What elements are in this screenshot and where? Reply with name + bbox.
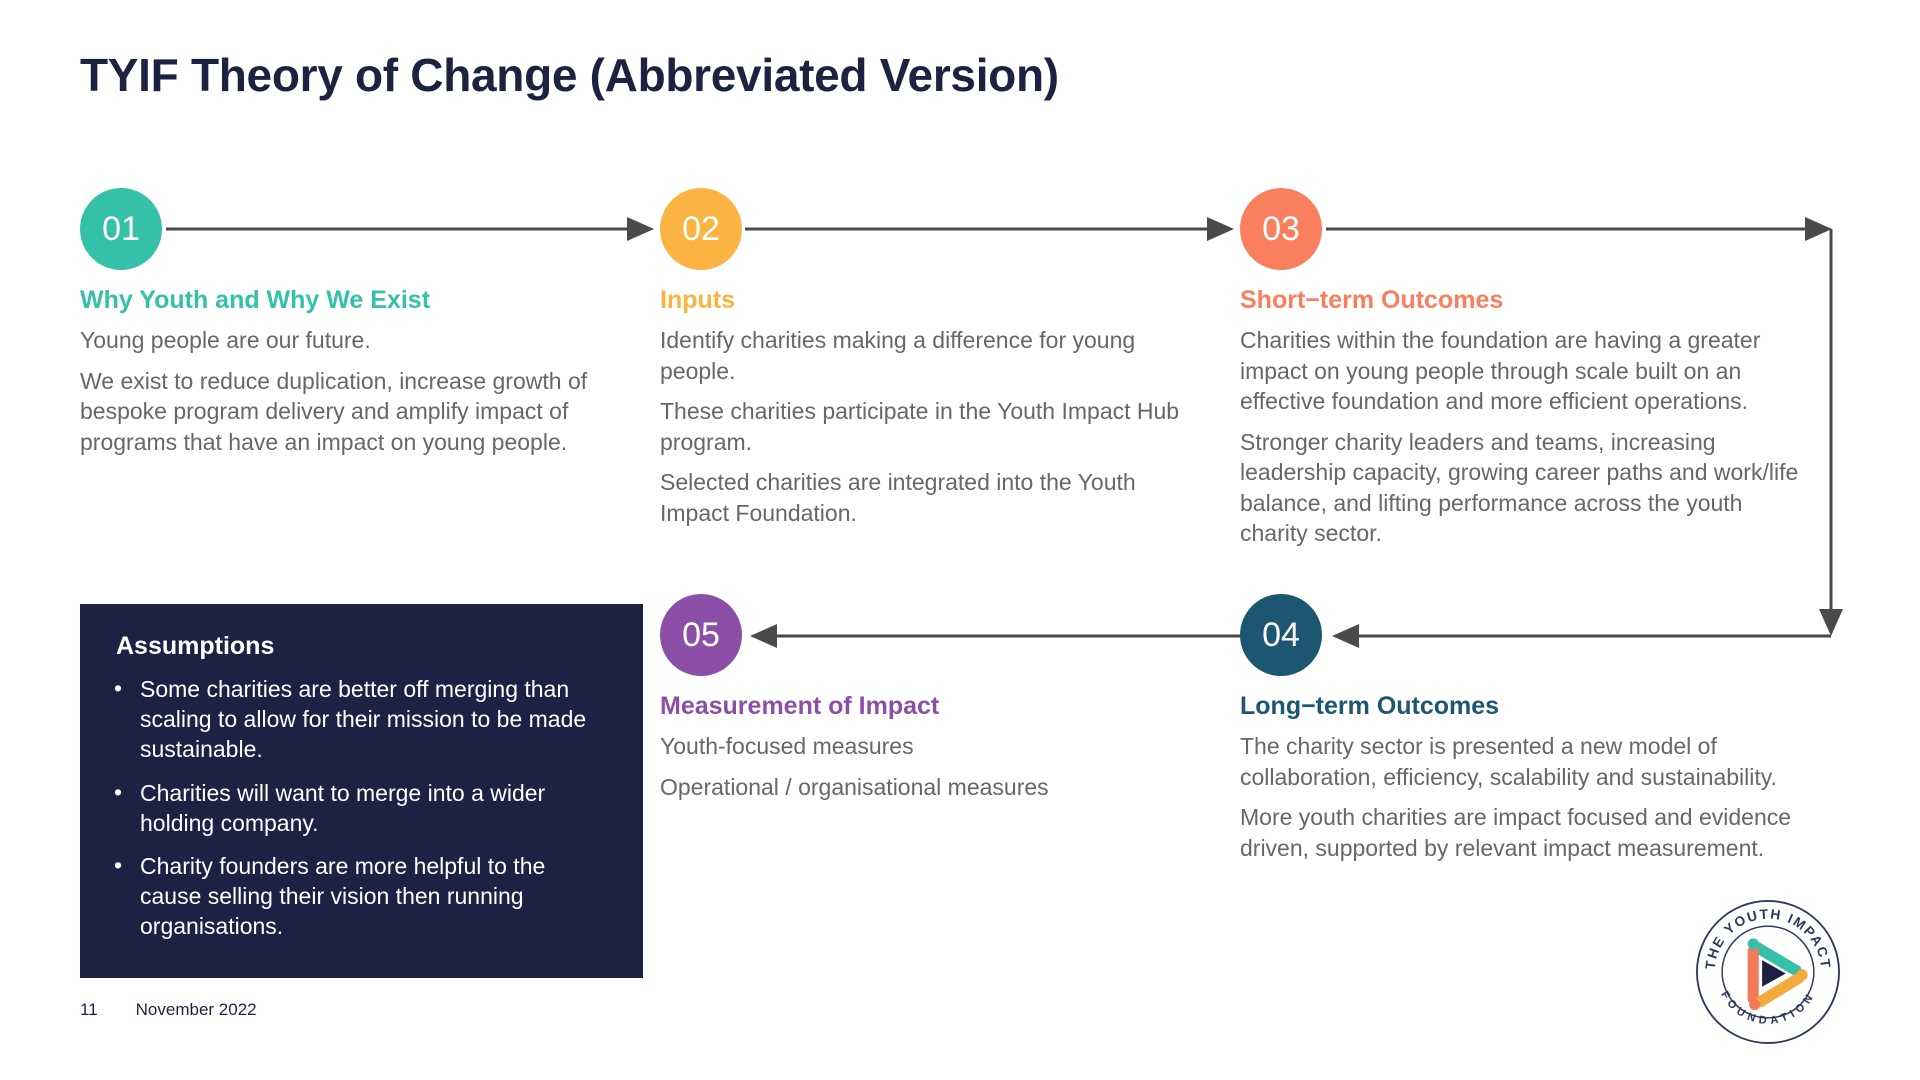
step-05-body-line: Youth-focused measures bbox=[660, 731, 1190, 762]
assumptions-title: Assumptions bbox=[116, 632, 609, 661]
step-02-body: Identify charities making a difference f… bbox=[660, 325, 1190, 528]
step-04-body: The charity sector is presented a new mo… bbox=[1240, 731, 1800, 863]
slide-footer: 11 November 2022 bbox=[80, 1000, 257, 1020]
step-01[interactable]: 01 Why Youth and Why We Exist Young peop… bbox=[80, 188, 640, 457]
assumptions-list-item: Charities will want to merge into a wide… bbox=[102, 779, 609, 839]
youth-impact-foundation-logo: THE YOUTH IMPACT FOUNDATION bbox=[1694, 898, 1842, 1046]
step-04-body-line: More youth charities are impact focused … bbox=[1240, 802, 1800, 863]
step-01-body-line: Young people are our future. bbox=[80, 325, 640, 356]
step-03-heading: Short−term Outcomes bbox=[1240, 286, 1800, 315]
step-03-number-badge: 03 bbox=[1240, 188, 1322, 270]
step-01-body-line: We exist to reduce duplication, increase… bbox=[80, 366, 640, 458]
step-01-number: 01 bbox=[102, 212, 140, 246]
step-02-body-line: Identify charities making a difference f… bbox=[660, 325, 1190, 386]
logo-dot-teal bbox=[1748, 938, 1759, 949]
step-03-body-line: Charities within the foundation are havi… bbox=[1240, 325, 1800, 417]
step-05-body-line: Operational / organisational measures bbox=[660, 772, 1190, 803]
logo-dot-coral bbox=[1749, 999, 1760, 1010]
slide-canvas: TYIF Theory of Change (Abbreviated Versi… bbox=[0, 0, 1920, 1080]
assumptions-list-item: Charity founders are more helpful to the… bbox=[102, 852, 609, 942]
step-04[interactable]: 04 Long−term Outcomes The charity sector… bbox=[1240, 594, 1800, 863]
step-05-number-badge: 05 bbox=[660, 594, 742, 676]
footer-page-number: 11 bbox=[80, 1000, 98, 1020]
step-02-body-line: These charities participate in the Youth… bbox=[660, 396, 1190, 457]
step-05[interactable]: 05 Measurement of Impact Youth-focused m… bbox=[660, 594, 1190, 802]
step-03[interactable]: 03 Short−term Outcomes Charities within … bbox=[1240, 188, 1800, 549]
step-03-body-line: Stronger charity leaders and teams, incr… bbox=[1240, 427, 1800, 549]
step-04-body-line: The charity sector is presented a new mo… bbox=[1240, 731, 1800, 792]
assumptions-list: Some charities are better off merging th… bbox=[102, 675, 609, 942]
step-01-heading: Why Youth and Why We Exist bbox=[80, 286, 640, 315]
step-02-number-badge: 02 bbox=[660, 188, 742, 270]
step-02-body-line: Selected charities are integrated into t… bbox=[660, 467, 1190, 528]
assumptions-panel: Assumptions Some charities are better of… bbox=[80, 604, 643, 978]
step-04-number-badge: 04 bbox=[1240, 594, 1322, 676]
step-04-heading: Long−term Outcomes bbox=[1240, 692, 1800, 721]
page-title: TYIF Theory of Change (Abbreviated Versi… bbox=[80, 48, 1059, 102]
footer-date: November 2022 bbox=[136, 1000, 257, 1020]
step-02-heading: Inputs bbox=[660, 286, 1190, 315]
step-02-number: 02 bbox=[682, 212, 720, 246]
step-04-number: 04 bbox=[1262, 618, 1300, 652]
step-03-number: 03 bbox=[1262, 212, 1300, 246]
step-03-body: Charities within the foundation are havi… bbox=[1240, 325, 1800, 549]
step-05-number: 05 bbox=[682, 618, 720, 652]
step-01-body: Young people are our future. We exist to… bbox=[80, 325, 640, 457]
step-02[interactable]: 02 Inputs Identify charities making a di… bbox=[660, 188, 1190, 528]
step-05-heading: Measurement of Impact bbox=[660, 692, 1190, 721]
logo-dot-amber bbox=[1796, 969, 1807, 980]
step-01-number-badge: 01 bbox=[80, 188, 162, 270]
assumptions-list-item: Some charities are better off merging th… bbox=[102, 675, 609, 765]
step-05-body: Youth-focused measures Operational / org… bbox=[660, 731, 1190, 802]
